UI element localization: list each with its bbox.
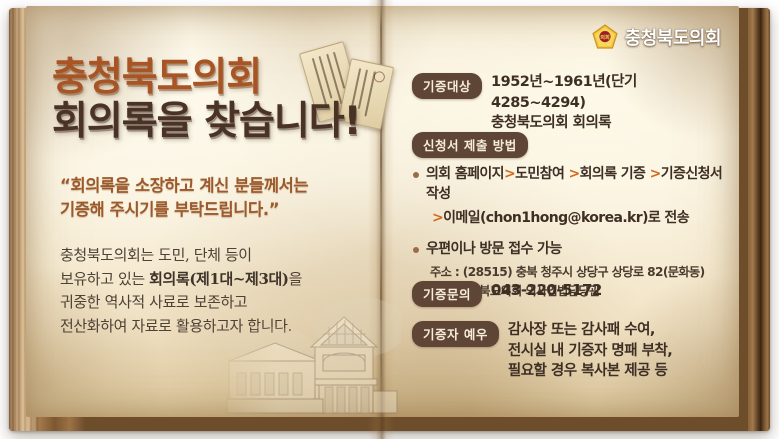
email-instruction: 이메일(chon1hong@korea.kr)로 전송 xyxy=(443,210,689,226)
courtesy-line-3: 필요할 경우 복사본 제공 등 xyxy=(508,363,667,379)
donor-courtesy-text: 감사장 또는 감사패 수여, 전시실 내 기증자 명패 부착, 필요할 경우 복… xyxy=(508,320,672,382)
donation-target-line-1: 1952년~1961년(단기4285~4294) xyxy=(491,74,637,111)
path-step-2: 도민참여 xyxy=(515,166,564,182)
address-line-1: 주소 : (28515) 충북 청주시 상당구 상당로 82(문화동) xyxy=(412,264,734,282)
path-arrow-3: > xyxy=(650,166,661,182)
courtesy-line-1: 감사장 또는 감사패 수여, xyxy=(508,322,655,338)
section-donation-target: 기증대상 1952년~1961년(단기4285~4294) 충청북도의회 회의록 xyxy=(412,72,730,134)
poster-canvas: 충청북도의회 회의록을 찾습니다! “회의록을 소장하고 계신 분들께서는 기증… xyxy=(0,0,779,439)
path-arrow-4: > xyxy=(432,210,443,226)
donation-target-text: 1952년~1961년(단기4285~4294) 충청북도의회 회의록 xyxy=(491,72,730,134)
section-inquiry: 기증문의 043-220-5172 xyxy=(412,280,730,307)
headline: 충청북도의회 회의록을 찾습니다! xyxy=(52,58,382,143)
pill-inquiry: 기증문의 xyxy=(412,281,482,307)
svg-text:의회: 의회 xyxy=(600,33,610,41)
path-step-3: 회의록 기증 xyxy=(580,166,646,182)
bullet-online-path: 의회 홈페이지>도민참여 >회의록 기증 >기증신청서 작성 xyxy=(412,165,734,205)
path-arrow-2: > xyxy=(569,166,580,182)
bullet-mail-or-visit: 우편이나 방문 접수 가능 xyxy=(412,240,734,260)
left-page: 충청북도의회 회의록을 찾습니다! “회의록을 소장하고 계신 분들께서는 기증… xyxy=(26,6,381,417)
historic-assembly-hall-watermark xyxy=(211,287,401,417)
courtesy-line-2: 전시실 내 기증자 명패 부착, xyxy=(508,343,672,359)
section-submission-method: 신청서 제출 방법 의회 홈페이지>도민참여 >회의록 기증 >기증신청서 작성… xyxy=(412,132,734,301)
headline-line-1: 충청북도의회 xyxy=(52,58,382,98)
pull-quote: “회의록을 소장하고 계신 분들께서는 기증해 주시기를 부탁드립니다.” xyxy=(60,174,380,222)
right-page: 의회 충청북도의회 기증대상 1952년~1961년(단기4285~4294) … xyxy=(394,6,739,417)
body-line-2-post: 을 xyxy=(289,270,302,288)
headline-line-2: 회의록을 찾습니다! xyxy=(52,101,382,143)
provincial-council-emblem-icon: 의회 xyxy=(592,24,618,50)
body-line-2-emphasis: 회의록(제1대~제3대) xyxy=(149,270,288,288)
bullet-email-path: >이메일(chon1hong@korea.kr)로 전송 xyxy=(412,209,734,229)
pill-donor-courtesy: 기증자 예우 xyxy=(412,321,499,347)
body-line-2-pre: 보유하고 있는 xyxy=(60,270,149,288)
mail-or-visit-text: 우편이나 방문 접수 가능 xyxy=(426,241,562,257)
pull-quote-line-1: “회의록을 소장하고 계신 분들께서는 xyxy=(60,174,380,198)
pill-donation-target: 기증대상 xyxy=(412,73,482,99)
organization-name: 충청북도의회 xyxy=(625,24,721,50)
pill-submission-method: 신청서 제출 방법 xyxy=(412,132,528,158)
path-arrow-1: > xyxy=(504,166,515,182)
path-step-1: 의회 홈페이지 xyxy=(426,166,504,182)
body-line-1: 충청북도의회는 도민, 단체 등이 xyxy=(60,244,390,268)
organization-logo: 의회 충청북도의회 xyxy=(592,24,721,50)
pull-quote-line-2: 기증해 주시기를 부탁드립니다.” xyxy=(60,198,380,222)
inquiry-phone-number[interactable]: 043-220-5172 xyxy=(491,280,602,301)
section-donor-courtesy: 기증자 예우 감사장 또는 감사패 수여, 전시실 내 기증자 명패 부착, 필… xyxy=(412,320,734,382)
donation-target-line-2: 충청북도의회 회의록 xyxy=(491,115,611,131)
book-right-cover-edge xyxy=(748,8,770,431)
